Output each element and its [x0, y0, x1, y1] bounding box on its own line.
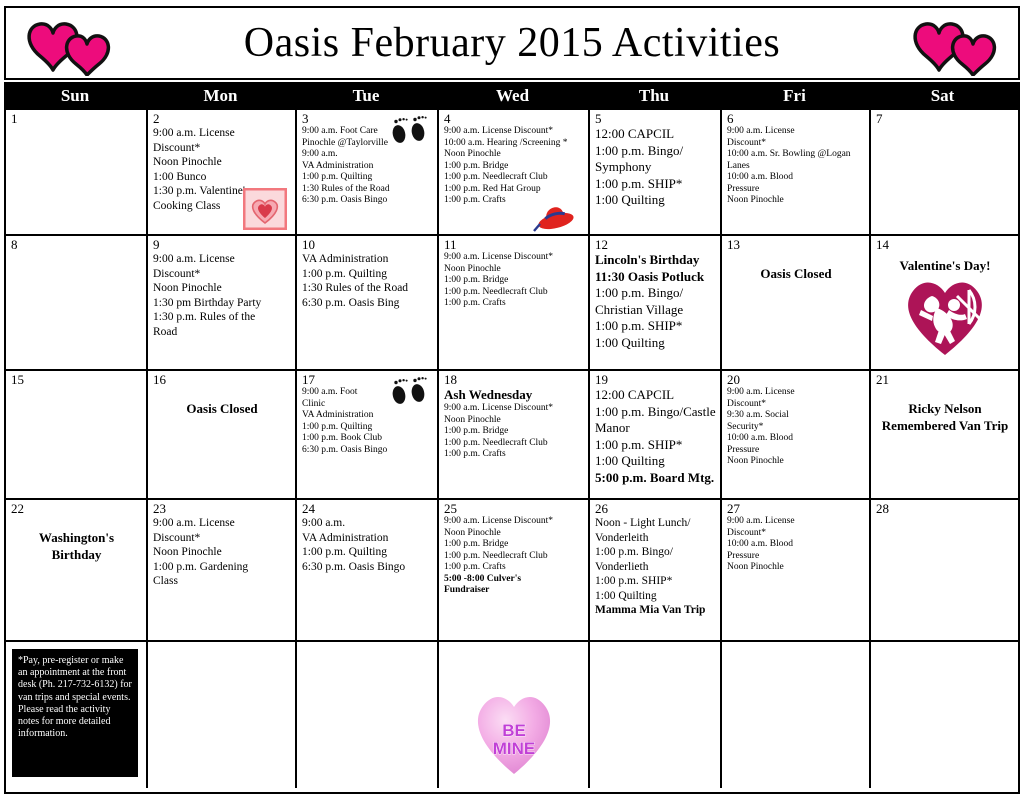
event-item: Noon Pinochle: [727, 562, 865, 574]
day-of-week-header: SunMonTueWedThuFriSat: [4, 82, 1020, 110]
event-item: 1:00 p.m. Quilting: [302, 172, 433, 184]
day-number: 28: [876, 502, 1014, 515]
event-item: 10:00 a.m. Hearing /Screening *: [444, 138, 584, 150]
event-item: 1:00 p.m. SHIP*: [595, 574, 716, 589]
footprints-icon: [387, 375, 431, 409]
event-item: Noon Pinochle: [153, 281, 291, 296]
event-item: 10:00 a.m. Blood Pressure: [727, 539, 865, 562]
double-hearts-icon-right: [904, 16, 1006, 76]
event-item: 1:30 p.m. Rules of the Road: [153, 310, 291, 339]
calendar-day-cell-3[interactable]: 39:00 a.m. Foot CarePinochle @Taylorvill…: [297, 110, 439, 234]
event-item: 1:00 p.m. SHIP*: [595, 176, 716, 193]
be-mine-candy-heart-icon: BE MINE: [466, 686, 562, 778]
event-item: 1:00 Bunco: [153, 170, 291, 185]
event-item: 1:30 pm Birthday Party: [153, 296, 291, 311]
calendar-week-row: 1516Oasis Closed179:00 a.m. Foot ClinicV…: [6, 371, 1018, 500]
calendar-empty-cell[interactable]: [297, 642, 439, 788]
event-item: Mamma Mia Van Trip: [595, 603, 716, 618]
event-item: 1:00 p.m. Crafts: [444, 562, 584, 574]
event-item: 9:00 a.m. License Discount*: [444, 126, 584, 138]
calendar-day-cell-10[interactable]: 10VA Administration1:00 p.m. Quilting1:3…: [297, 236, 439, 369]
event-item: 1:00 p.m. Quilting: [302, 545, 433, 560]
day-events-list: 9:00 a.m. License Discount*10:00 a.m. He…: [444, 126, 584, 207]
calendar-day-cell-12[interactable]: 12Lincoln's Birthday11:30 Oasis Potluck1…: [590, 236, 722, 369]
event-item: 1:00 p.m. Red Hat Group: [444, 184, 584, 196]
day-number: 1: [11, 112, 142, 125]
day-number: 25: [444, 502, 584, 515]
svg-text:MINE: MINE: [492, 739, 535, 758]
cupid-heart-icon: [899, 274, 991, 358]
event-item: 1:00 p.m. Needlecraft Club: [444, 551, 584, 563]
calendar-empty-cell[interactable]: BE MINE: [439, 642, 590, 788]
calendar-empty-cell[interactable]: [148, 642, 297, 788]
event-item: Noon Pinochle: [153, 155, 291, 170]
event-item: Noon Pinochle: [444, 415, 584, 427]
calendar-day-cell-11[interactable]: 119:00 a.m. License Discount*Noon Pinoch…: [439, 236, 590, 369]
day-number: 27: [727, 502, 865, 515]
event-item: 1:00 p.m. Needlecraft Club: [444, 438, 584, 450]
calendar-day-cell-22[interactable]: 22Washington's Birthday: [6, 500, 148, 640]
day-number: 24: [302, 502, 433, 515]
event-item: 10:00 a.m. Blood Pressure: [727, 433, 865, 456]
event-item: 1:00 p.m. Bingo/ Christian Village: [595, 285, 716, 318]
calendar-day-cell-24[interactable]: 249:00 a.m.VA Administration1:00 p.m. Qu…: [297, 500, 439, 640]
day-events-list: Lincoln's Birthday11:30 Oasis Potluck1:0…: [595, 252, 716, 351]
day-number: 13: [727, 238, 865, 251]
event-item: 9:00 a.m.: [302, 149, 433, 161]
page-title: Oasis February 2015 Activities: [244, 19, 780, 67]
event-item: 1:00 p.m. Crafts: [444, 449, 584, 461]
calendar-empty-cell[interactable]: *Pay, pre-register or make an appointmen…: [6, 642, 148, 788]
event-item: 1:00 p.m. Needlecraft Club: [444, 172, 584, 184]
day-number: 2: [153, 112, 291, 125]
event-item: 6:30 p.m. Oasis Bingo: [302, 560, 433, 575]
event-item: 1:00 p.m. Bridge: [444, 539, 584, 551]
day-number: 19: [595, 373, 716, 386]
event-item: 11:30 Oasis Potluck: [595, 269, 716, 286]
day-highlight-note: Oasis Closed: [153, 400, 291, 417]
day-number: 16: [153, 373, 291, 386]
calendar-empty-cell[interactable]: [590, 642, 722, 788]
calendar-day-cell-2[interactable]: 29:00 a.m. License Discount*Noon Pinochl…: [148, 110, 297, 234]
day-highlight-note: Valentine's Day!: [876, 257, 1014, 274]
event-item: Noon Pinochle: [153, 545, 291, 560]
event-item: 9:00 a.m. License Discount*: [153, 126, 291, 155]
calendar-week-row: 129:00 a.m. License Discount*Noon Pinoch…: [6, 110, 1018, 236]
day-events-list: 12:00 CAPCIL1:00 p.m. Bingo/ Symphony1:0…: [595, 126, 716, 209]
calendar-day-cell-19[interactable]: 1912:00 CAPCIL1:00 p.m. Bingo/Castle Man…: [590, 371, 722, 498]
event-item: 12:00 CAPCIL: [595, 126, 716, 143]
day-holiday-heading: Ash Wednesday: [444, 387, 584, 403]
event-item: 6:30 p.m. Oasis Bingo: [302, 195, 433, 207]
day-number: 22: [11, 502, 142, 515]
event-item: VA Administration: [302, 531, 433, 546]
day-events-list: 9:00 a.m. License Discount*10:00 a.m. Bl…: [727, 516, 865, 574]
day-number: 6: [727, 112, 865, 125]
day-events-list: 9:00 a.m. License Discount*10:00 a.m. Sr…: [727, 126, 865, 207]
calendar-page: Oasis February 2015 Activities SunMonTue…: [0, 0, 1024, 800]
day-number: 7: [876, 112, 1014, 125]
event-item: 1:00 p.m. Quilting: [302, 267, 433, 282]
event-item: Noon Pinochle: [444, 528, 584, 540]
event-item: VA Administration: [302, 161, 433, 173]
footnote-box: *Pay, pre-register or make an appointmen…: [12, 649, 138, 777]
event-item: 1:00 p.m. SHIP*: [595, 318, 716, 335]
event-item: 10:00 a.m. Sr. Bowling @Logan Lanes: [727, 149, 865, 172]
calendar-day-cell-20[interactable]: 209:00 a.m. License Discount*9:30 a.m. S…: [722, 371, 871, 498]
event-item: Noon Pinochle: [727, 195, 865, 207]
event-item: VA Administration: [302, 252, 433, 267]
event-item: 9:00 a.m. License Discount*: [444, 516, 584, 528]
event-item: 1:00 p.m. Bridge: [444, 426, 584, 438]
calendar-day-cell-23[interactable]: 239:00 a.m. License Discount*Noon Pinoch…: [148, 500, 297, 640]
calendar-day-cell-26[interactable]: 26Noon - Light Lunch/ Vonderleith1:00 p.…: [590, 500, 722, 640]
calendar-week-row: 22Washington's Birthday239:00 a.m. Licen…: [6, 500, 1018, 642]
event-item: Noon Pinochle: [727, 456, 865, 468]
day-number: 12: [595, 238, 716, 251]
day-events-list: 9:00 a.m. License Discount*Noon Pinochle…: [444, 516, 584, 597]
calendar-empty-cell[interactable]: [722, 642, 871, 788]
event-item: 12:00 CAPCIL: [595, 387, 716, 404]
day-events-list: VA Administration1:00 p.m. Quilting1:30 …: [302, 252, 433, 310]
calendar-day-cell-7[interactable]: 7: [871, 110, 1018, 234]
red-hat-icon: [532, 202, 578, 232]
day-number: 9: [153, 238, 291, 251]
event-item: 1:00 p.m. Bridge: [444, 275, 584, 287]
day-events-list: 9:00 a.m. License Discount*9:30 a.m. Soc…: [727, 387, 865, 468]
event-item: 1:00 p.m. Bingo/ Symphony: [595, 143, 716, 176]
day-number: 8: [11, 238, 142, 251]
calendar-day-cell-27[interactable]: 279:00 a.m. License Discount*10:00 a.m. …: [722, 500, 871, 640]
event-item: 9:00 a.m. License Discount*: [153, 516, 291, 545]
calendar-day-cell-8[interactable]: 8: [6, 236, 148, 369]
calendar-day-cell-14[interactable]: 14Valentine's Day!: [871, 236, 1018, 369]
day-header-sun: Sun: [4, 82, 146, 110]
calendar-day-cell-13[interactable]: 13Oasis Closed: [722, 236, 871, 369]
event-item: 1:00 p.m. Book Club: [302, 433, 433, 445]
day-header-fri: Fri: [720, 82, 869, 110]
day-header-wed: Wed: [437, 82, 588, 110]
event-item: 6:30 p.m. Oasis Bingo: [302, 445, 433, 457]
day-highlight-note: Ricky Nelson Remembered Van Trip: [876, 400, 1014, 434]
day-events-list: 9:00 a.m. License Discount*Noon Pinochle…: [153, 252, 291, 339]
day-header-sat: Sat: [869, 82, 1016, 110]
calendar-day-cell-15[interactable]: 15: [6, 371, 148, 498]
event-item: 1:00 p.m. Bridge: [444, 161, 584, 173]
event-item: 1:30 Rules of the Road: [302, 281, 433, 296]
day-number: 14: [876, 238, 1014, 251]
event-item: 9:30 a.m. Social Security*: [727, 410, 865, 433]
event-item: 10:00 a.m. Blood Pressure: [727, 172, 865, 195]
event-item: 9:00 a.m. License Discount*: [727, 516, 865, 539]
footprints-icon: [387, 114, 431, 148]
valentine-box-icon: [243, 188, 287, 230]
calendar-day-cell-17[interactable]: 179:00 a.m. Foot ClinicVA Administration…: [297, 371, 439, 498]
event-item: 5:00 p.m. Board Mtg.: [595, 470, 716, 487]
calendar-week-row: *Pay, pre-register or make an appointmen…: [6, 642, 1018, 788]
event-item: 9:00 a.m. License Discount*: [444, 403, 584, 415]
day-number: 10: [302, 238, 433, 251]
day-events-list: 9:00 a.m.VA Administration1:00 p.m. Quil…: [302, 516, 433, 574]
calendar-day-cell-28[interactable]: 28: [871, 500, 1018, 640]
event-item: 1:00 Quilting: [595, 192, 716, 209]
event-item: 5:00 -8:00 Culver's Fundraiser: [444, 574, 584, 597]
event-item: 1:30 Rules of the Road: [302, 184, 433, 196]
event-item: Noon - Light Lunch/ Vonderleith: [595, 516, 716, 545]
calendar-day-cell-18[interactable]: 18Ash Wednesday9:00 a.m. License Discoun…: [439, 371, 590, 498]
day-number: 18: [444, 373, 584, 386]
day-number: 20: [727, 373, 865, 386]
calendar-day-cell-4[interactable]: 49:00 a.m. License Discount*10:00 a.m. H…: [439, 110, 590, 234]
calendar-day-cell-9[interactable]: 99:00 a.m. License Discount*Noon Pinochl…: [148, 236, 297, 369]
day-header-tue: Tue: [295, 82, 437, 110]
day-number: 26: [595, 502, 716, 515]
event-item: 9:00 a.m. License Discount*: [727, 126, 865, 149]
day-header-thu: Thu: [588, 82, 720, 110]
calendar-day-cell-21[interactable]: 21Ricky Nelson Remembered Van Trip: [871, 371, 1018, 498]
event-item: 6:30 p.m. Oasis Bing: [302, 296, 433, 311]
day-events-list: 9:00 a.m. License Discount*Noon Pinochle…: [444, 252, 584, 310]
event-item: 9:00 a.m. License Discount*: [444, 252, 584, 264]
event-item: Noon Pinochle: [444, 264, 584, 276]
event-item: 1:00 p.m. Quilting: [302, 422, 433, 434]
day-events-list: 12:00 CAPCIL1:00 p.m. Bingo/Castle Manor…: [595, 387, 716, 486]
day-number: 11: [444, 238, 584, 251]
calendar-day-cell-1[interactable]: 1: [6, 110, 148, 234]
event-item: 1:00 Quilting: [595, 453, 716, 470]
day-events-list: Noon - Light Lunch/ Vonderleith1:00 p.m.…: [595, 516, 716, 618]
event-item: 9:00 a.m.: [302, 516, 433, 531]
day-number: 4: [444, 112, 584, 125]
event-item: 9:00 a.m. License Discount*: [727, 387, 865, 410]
day-number: 23: [153, 502, 291, 515]
day-header-mon: Mon: [146, 82, 295, 110]
event-item: 1:00 p.m. Bingo/Castle Manor: [595, 404, 716, 437]
calendar-day-cell-16[interactable]: 16Oasis Closed: [148, 371, 297, 498]
calendar-day-cell-5[interactable]: 512:00 CAPCIL1:00 p.m. Bingo/ Symphony1:…: [590, 110, 722, 234]
event-item: Noon Pinochle: [444, 149, 584, 161]
event-item: 9:00 a.m. License Discount*: [153, 252, 291, 281]
event-item: 1:00 p.m. Bingo/ Vonderlieth: [595, 545, 716, 574]
event-item: VA Administration: [302, 410, 433, 422]
day-number: 21: [876, 373, 1014, 386]
day-number: 15: [11, 373, 142, 386]
day-events-list: 9:00 a.m. License Discount*Noon Pinochle…: [153, 516, 291, 589]
event-item: 1:00 Quilting: [595, 589, 716, 604]
calendar-empty-cell[interactable]: [871, 642, 1018, 788]
calendar-week-row: 899:00 a.m. License Discount*Noon Pinoch…: [6, 236, 1018, 371]
event-item: 1:00 p.m. Gardening Class: [153, 560, 291, 589]
day-number: 5: [595, 112, 716, 125]
event-item: 1:00 p.m. Needlecraft Club: [444, 287, 584, 299]
double-hearts-icon-left: [18, 16, 120, 76]
event-item: 1:00 Quilting: [595, 335, 716, 352]
calendar-grid: 129:00 a.m. License Discount*Noon Pinoch…: [4, 110, 1020, 794]
day-events-list: 9:00 a.m. License Discount*Noon Pinochle…: [444, 403, 584, 461]
calendar-day-cell-25[interactable]: 259:00 a.m. License Discount*Noon Pinoch…: [439, 500, 590, 640]
event-item: 1:00 p.m. Crafts: [444, 298, 584, 310]
day-highlight-note: Washington's Birthday: [11, 529, 142, 563]
event-item: 1:00 p.m. SHIP*: [595, 437, 716, 454]
title-banner: Oasis February 2015 Activities: [4, 6, 1020, 80]
event-item: Lincoln's Birthday: [595, 252, 716, 269]
day-highlight-note: Oasis Closed: [727, 265, 865, 282]
calendar-day-cell-6[interactable]: 69:00 a.m. License Discount*10:00 a.m. S…: [722, 110, 871, 234]
svg-text:BE: BE: [502, 721, 526, 740]
